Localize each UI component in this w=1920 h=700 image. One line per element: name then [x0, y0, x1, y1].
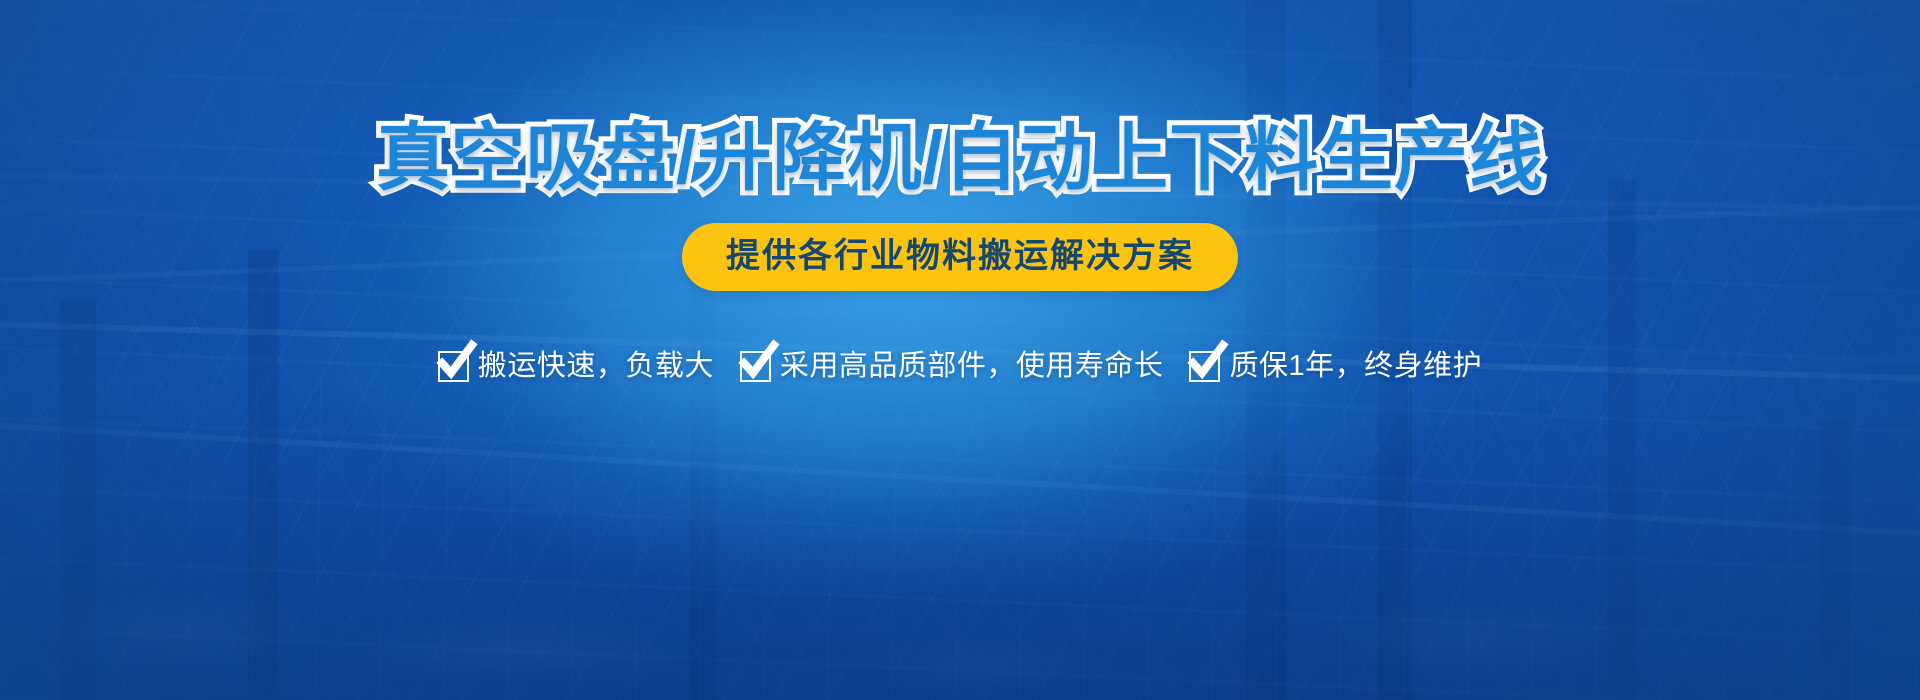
feature-item: 质保1年，终身维护 — [1189, 351, 1482, 382]
checkbox-checked-icon — [740, 351, 771, 382]
hero-banner: 真空吸盘/升降机/自动上下料生产线 提供各行业物料搬运解决方案 搬运快速，负载大… — [0, 0, 1920, 700]
banner-subtitle-pill: 提供各行业物料搬运解决方案 — [682, 223, 1238, 291]
feature-label: 质保1年，终身维护 — [1229, 352, 1482, 381]
feature-label: 采用高品质部件，使用寿命长 — [780, 352, 1164, 381]
feature-item: 搬运快速，负载大 — [438, 351, 714, 382]
banner-headline: 真空吸盘/升降机/自动上下料生产线 — [376, 121, 1544, 195]
feature-label: 搬运快速，负载大 — [478, 352, 714, 381]
checkbox-checked-icon — [1189, 351, 1220, 382]
banner-content: 真空吸盘/升降机/自动上下料生产线 提供各行业物料搬运解决方案 搬运快速，负载大… — [0, 0, 1920, 700]
feature-item: 采用高品质部件，使用寿命长 — [740, 351, 1164, 382]
feature-list: 搬运快速，负载大 采用高品质部件，使用寿命长 质保1年，终身维护 — [438, 351, 1482, 382]
checkbox-checked-icon — [438, 351, 469, 382]
